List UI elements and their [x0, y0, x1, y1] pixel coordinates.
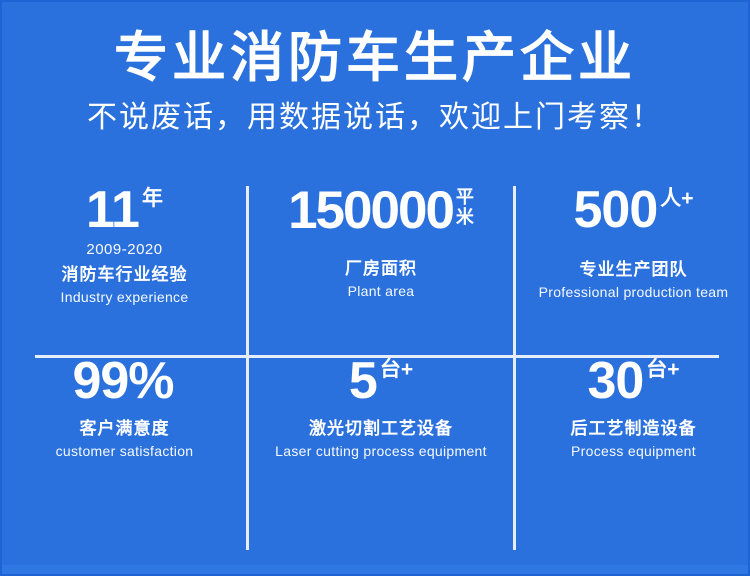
banner-header: 专业消防车生产企业 不说废话，用数据说话，欢迎上门考察！	[2, 2, 748, 172]
stat-cell-production-team: 500 人+ 专业生产团队 Professional production te…	[515, 185, 750, 356]
page-subtitle: 不说废话，用数据说话，欢迎上门考察！	[2, 87, 748, 136]
stat-number: 150000	[288, 185, 453, 237]
stat-label-cn: 客户满意度	[80, 419, 170, 439]
stat-label-en: Plant area	[348, 283, 415, 300]
stat-number-line: 5 台+	[349, 356, 413, 407]
stat-cell-plant-area: 150000 平 米 厂房面积 Plant area	[247, 185, 515, 356]
stat-number: 30	[587, 356, 643, 407]
stat-label-en: Laser cutting process equipment	[275, 443, 487, 460]
stat-label-en: customer satisfaction	[56, 443, 194, 460]
stat-number-line: 30 台+	[587, 356, 679, 407]
stat-unit: 人+	[660, 185, 693, 210]
stat-unit: 年	[142, 185, 163, 210]
stat-cell-customer-satisfaction: 99% 客户满意度 customer satisfaction	[2, 356, 247, 551]
stat-label-cn: 激光切割工艺设备	[309, 419, 453, 439]
stat-number-line: 500 人+	[573, 185, 693, 236]
page-title: 专业消防车生产企业	[2, 2, 748, 87]
stat-unit: 台+	[380, 356, 413, 381]
stat-number-line: 99%	[72, 356, 176, 407]
promo-banner: 专业消防车生产企业 不说废话，用数据说话，欢迎上门考察！ 11 年 2009-2…	[0, 0, 750, 576]
stat-cell-process-equipment: 30 台+ 后工艺制造设备 Process equipment	[515, 356, 750, 551]
stat-cell-laser-cutting-equipment: 5 台+ 激光切割工艺设备 Laser cutting process equi…	[247, 356, 515, 551]
stat-label-en: Process equipment	[571, 443, 696, 460]
stat-cell-industry-experience: 11 年 2009-2020 消防车行业经验 Industry experien…	[2, 185, 247, 356]
stat-range: 2009-2020	[86, 241, 162, 258]
bottom-strip	[2, 565, 748, 574]
stat-label-cn: 后工艺制造设备	[571, 419, 697, 439]
stat-number: 500	[573, 185, 657, 236]
stat-number-line: 11 年	[86, 185, 163, 236]
stat-label-en: Industry experience	[61, 289, 189, 306]
stat-unit: 台+	[646, 356, 679, 381]
stat-number: 5	[349, 356, 377, 407]
stat-number: 11	[86, 185, 139, 236]
divider-horizontal	[35, 355, 719, 358]
stat-number-line: 150000 平 米	[288, 185, 474, 237]
stat-unit: 平 米	[456, 185, 474, 227]
stat-label-cn: 专业生产团队	[580, 260, 688, 280]
stat-label-cn: 厂房面积	[345, 259, 417, 279]
stat-label-en: Professional production team	[539, 284, 729, 301]
stat-label-cn: 消防车行业经验	[62, 265, 188, 285]
stats-grid: 11 年 2009-2020 消防车行业经验 Industry experien…	[2, 185, 750, 551]
stat-number: 99%	[72, 356, 173, 407]
divider-vertical-right	[513, 186, 516, 550]
divider-vertical-left	[246, 186, 249, 550]
